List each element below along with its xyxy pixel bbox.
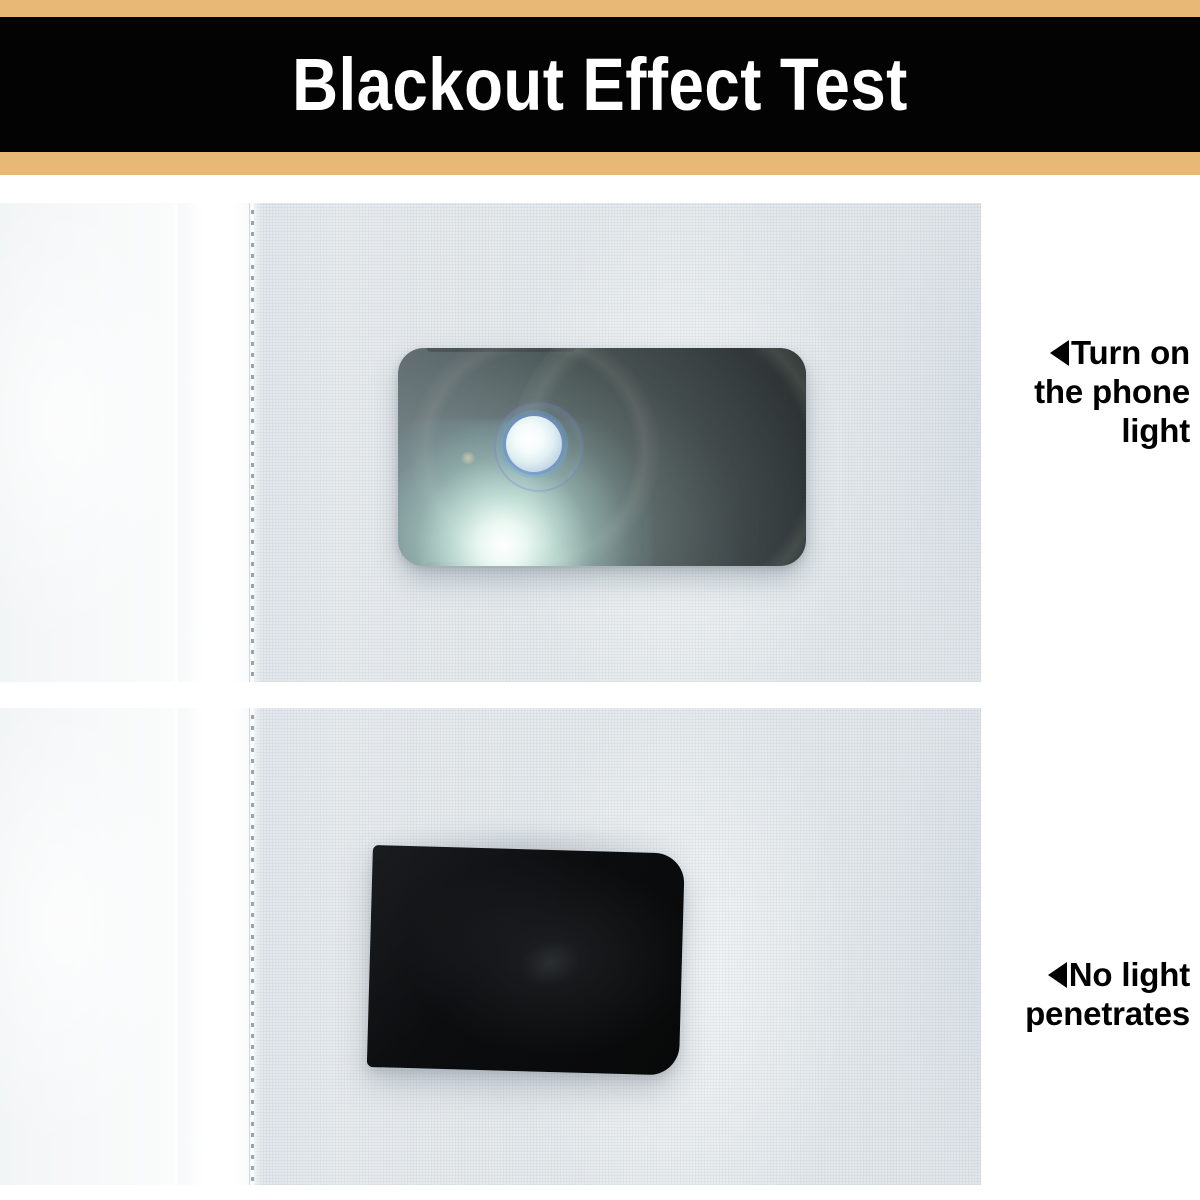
curtain-seam-line (249, 708, 250, 1185)
photo-panel-light-on (0, 203, 981, 682)
caption-line-text: No light (1069, 956, 1190, 993)
header-band-top (0, 0, 1200, 17)
phone-with-light-off (367, 845, 685, 1076)
caption-line: No light (860, 955, 1190, 994)
page-title: Blackout Effect Test (292, 48, 908, 122)
curtain-left-panel (0, 708, 182, 1185)
curtain-stitch-seam (251, 708, 254, 1185)
header-band-bottom (0, 152, 1200, 175)
caption-line-text: light (860, 411, 1190, 450)
caption-turn-on-the-phone-light: Turn on the phone light (860, 333, 1190, 450)
left-triangle-arrow-icon (1050, 340, 1069, 366)
caption-line-text: penetrates (860, 994, 1190, 1033)
header-title-bar: Blackout Effect Test (0, 17, 1200, 152)
phone-with-light-on (398, 348, 806, 566)
caption-line-text: Turn on (1071, 334, 1190, 371)
curtain-hem-band (178, 203, 252, 682)
curtain-left-panel (0, 203, 182, 682)
product-image-canvas: Blackout Effect Test (0, 0, 1200, 1200)
lens-flare-orb (506, 416, 562, 472)
lens-flare-ghost (460, 452, 476, 464)
curtain-seam-line (249, 203, 250, 682)
curtain-stitch-seam (251, 203, 254, 682)
photo-panel-light-blocked (0, 708, 981, 1185)
curtain-hem-band (178, 708, 252, 1185)
caption-line: Turn on (860, 333, 1190, 372)
left-triangle-arrow-icon (1048, 962, 1067, 988)
caption-line-text: the phone (860, 372, 1190, 411)
caption-no-light-penetrates: No light penetrates (860, 955, 1190, 1033)
